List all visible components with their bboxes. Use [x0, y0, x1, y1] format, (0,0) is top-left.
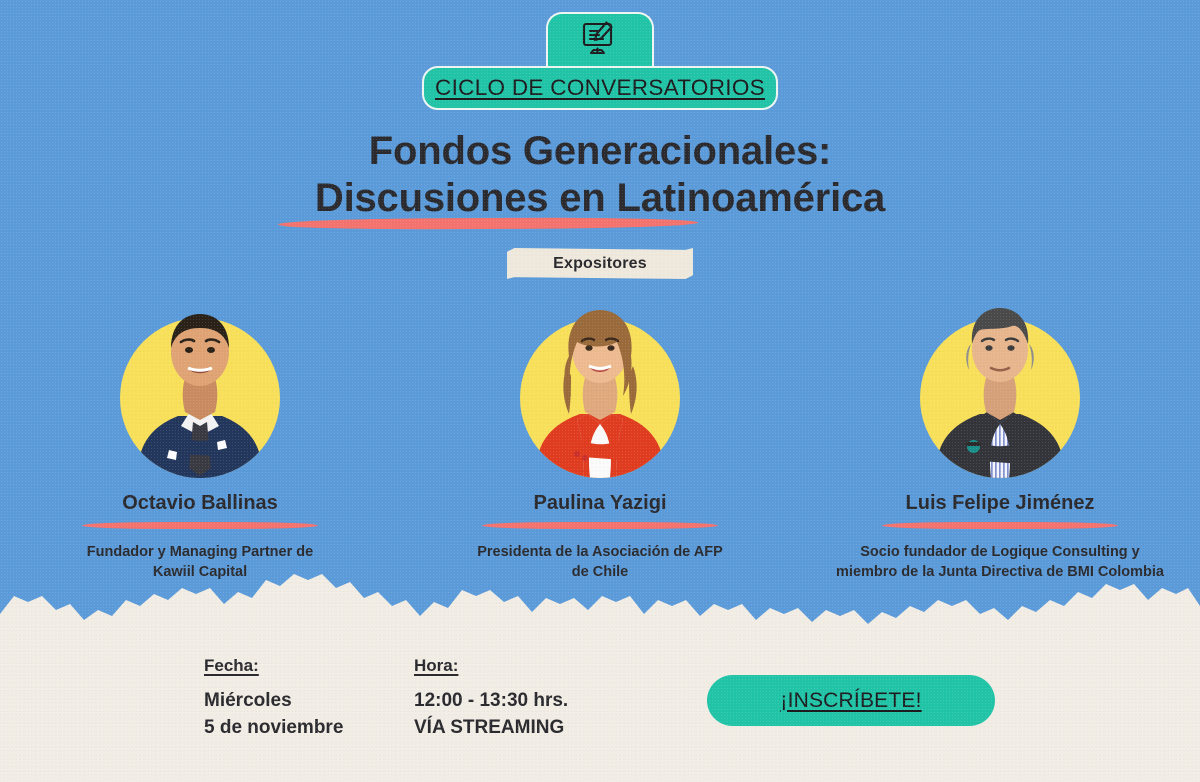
speaker-photo — [911, 282, 1089, 478]
avatar — [111, 282, 289, 478]
event-flyer: CICLO DE CONVERSATORIOS Fondos Generacio… — [0, 0, 1200, 782]
speaker-underline — [82, 522, 318, 529]
badge-label: CICLO DE CONVERSATORIOS — [435, 75, 765, 101]
tape-text: Expositores — [553, 255, 647, 273]
date-line-2: 5 de noviembre — [204, 715, 343, 742]
badge-icon-tab — [546, 12, 654, 68]
avatar — [511, 282, 689, 478]
page-title: Fondos Generacionales: Discusiones en La… — [0, 128, 1200, 222]
register-button-label: ¡INSCRÍBETE! — [780, 689, 921, 713]
date-line-1: Miércoles — [204, 688, 343, 715]
title-line-2: Discusiones en Latinoamérica — [0, 175, 1200, 222]
monitor-pencil-icon — [579, 20, 621, 63]
time-label: Hora: — [414, 656, 568, 676]
speaker-name: Luis Felipe Jiménez — [906, 492, 1095, 515]
speaker-card: Paulina Yazigi Presidenta de la Asociaci… — [400, 282, 800, 582]
expositores-tape-label: Expositores — [507, 248, 693, 279]
speaker-underline — [482, 522, 718, 529]
speaker-photo — [111, 282, 289, 478]
avatar — [911, 282, 1089, 478]
register-button[interactable]: ¡INSCRÍBETE! — [707, 675, 995, 726]
badge-bar: CICLO DE CONVERSATORIOS — [422, 66, 778, 110]
title-line-1: Fondos Generacionales: — [0, 128, 1200, 175]
footer: Fecha: Miércoles 5 de noviembre Hora: 12… — [0, 612, 1200, 782]
date-value: Miércoles 5 de noviembre — [204, 688, 343, 742]
speaker-card: Octavio Ballinas Fundador y Managing Par… — [0, 282, 400, 582]
header-badge: CICLO DE CONVERSATORIOS — [0, 12, 1200, 110]
speaker-name: Octavio Ballinas — [122, 492, 278, 515]
speaker-photo — [511, 282, 689, 478]
speaker-card: Luis Felipe Jiménez Socio fundador de Lo… — [800, 282, 1200, 582]
date-label: Fecha: — [204, 656, 343, 676]
time-block: Hora: 12:00 - 13:30 hrs. VÍA STREAMING — [414, 656, 568, 742]
time-line-1: 12:00 - 13:30 hrs. — [414, 688, 568, 715]
date-block: Fecha: Miércoles 5 de noviembre — [204, 656, 343, 742]
speaker-name: Paulina Yazigi — [533, 492, 666, 515]
time-line-2: VÍA STREAMING — [414, 715, 568, 742]
speakers-row: Octavio Ballinas Fundador y Managing Par… — [0, 282, 1200, 582]
time-value: 12:00 - 13:30 hrs. VÍA STREAMING — [414, 688, 568, 742]
speaker-underline — [882, 522, 1118, 529]
